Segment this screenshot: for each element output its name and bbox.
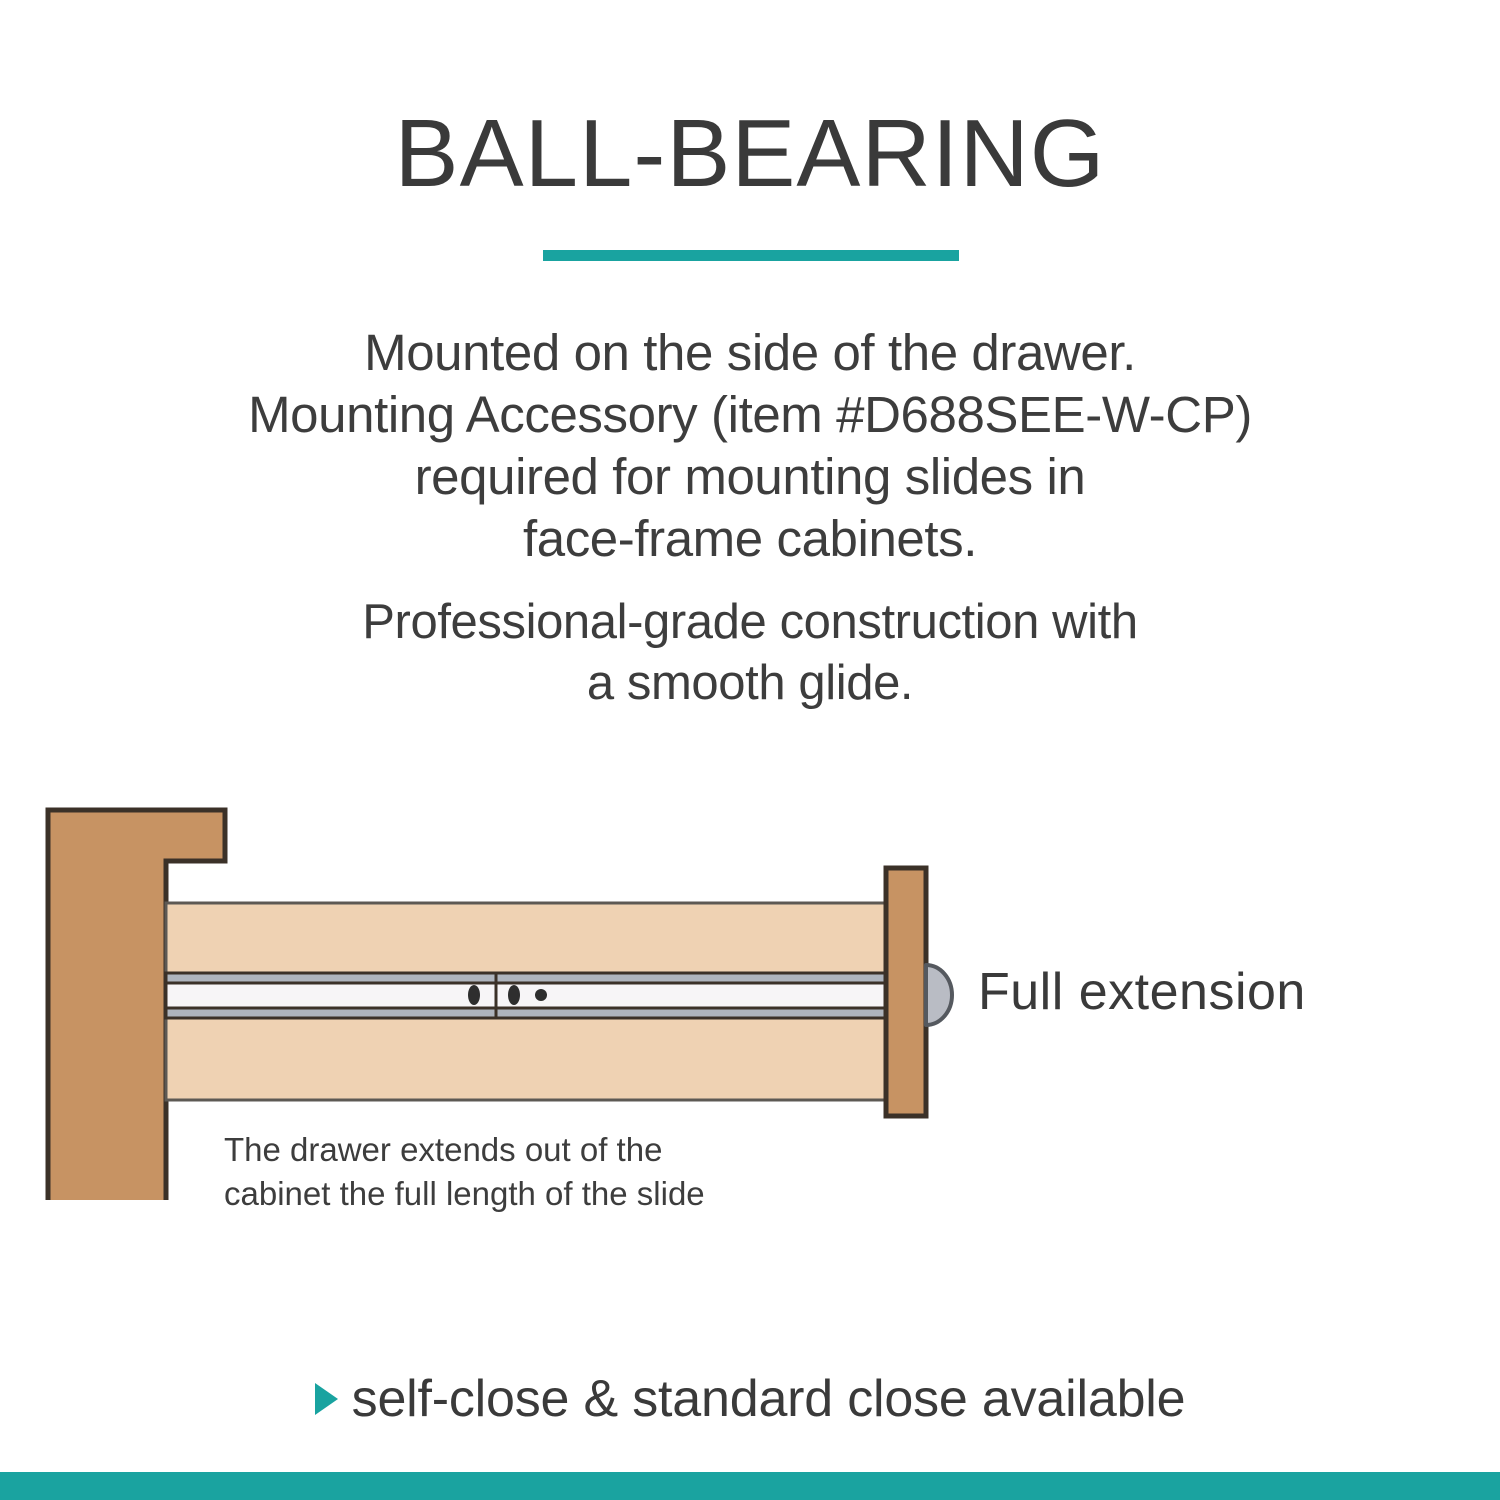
full-extension-label: Full extension: [978, 962, 1306, 1022]
feature-bullet-label: self-close & standard close available: [352, 1368, 1186, 1430]
drawer-knob: [926, 965, 952, 1025]
slide-mounting-hole-right: [508, 985, 520, 1005]
diagram-caption: The drawer extends out of the cabinet th…: [224, 1128, 705, 1216]
title-divider: [543, 250, 959, 261]
description-paragraph-primary: Mounted on the side of the drawer. Mount…: [0, 322, 1500, 570]
slide-rail-top: [166, 973, 893, 983]
bottom-accent-bar: [0, 1472, 1500, 1500]
drawer-box-lower: [166, 1018, 893, 1100]
feature-bullet-row: self-close & standard close available: [0, 1368, 1500, 1430]
drawer-box-upper: [166, 903, 893, 973]
triangle-bullet-icon: [315, 1383, 338, 1415]
slide-rail-bottom: [166, 1008, 893, 1018]
slide-mounting-hole-left: [468, 985, 480, 1005]
page-title: BALL-BEARING: [0, 104, 1500, 204]
drawer-front-panel: [886, 868, 926, 1116]
description-paragraph-secondary: Professional-grade construction with a s…: [0, 592, 1500, 714]
slide-mounting-hole-round: [535, 989, 547, 1001]
